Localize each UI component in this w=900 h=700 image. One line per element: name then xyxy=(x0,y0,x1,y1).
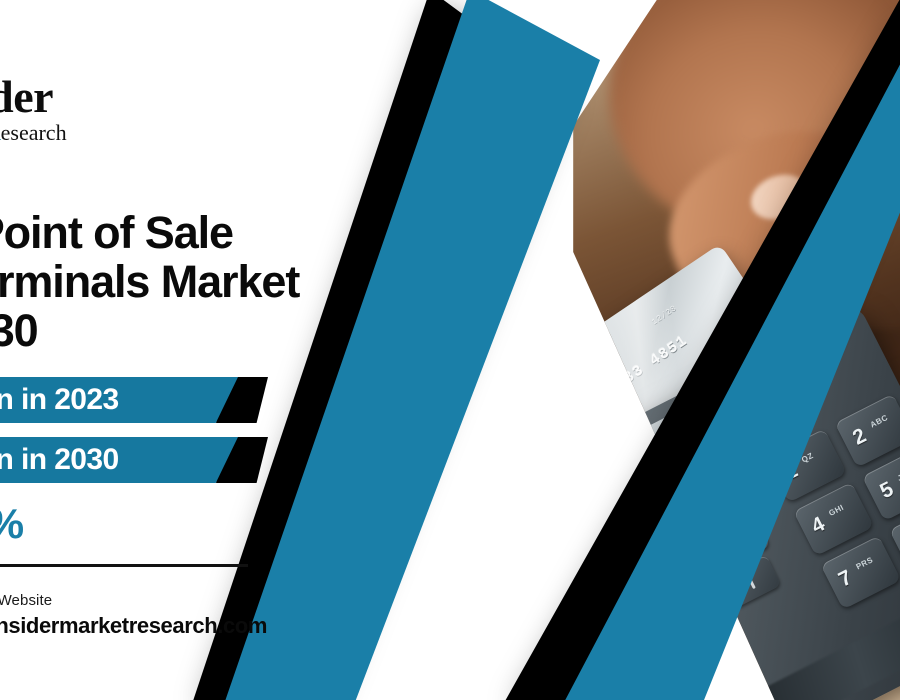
brand-logo: Insider MarketResearch xyxy=(0,74,166,144)
keypad-key: 2 ABC xyxy=(835,394,900,468)
terminal-keypad: 1 QZ 2 ABC 4 GHI 5 JKL xyxy=(766,394,900,663)
logo-research-text: esearch xyxy=(1,120,67,145)
infographic-canvas: 12/28 5309 7883 4851 BANK CREDIT xyxy=(0,0,900,700)
keypad-key: 5 JKL xyxy=(862,447,900,521)
key-digit: 4 xyxy=(808,512,829,539)
keypad-key: 8 TUV xyxy=(889,501,900,575)
emv-chip-icon xyxy=(588,430,631,471)
key-letters: JKL xyxy=(896,467,900,483)
stat-banner-2030: 4 Billion in 2030 xyxy=(0,437,276,483)
logo-tagline: MarketResearch xyxy=(0,122,166,144)
key-digit: 1 xyxy=(780,459,801,486)
key-digit: 5 xyxy=(876,477,897,504)
stat-banner-2023: 3 Billion in 2023 xyxy=(0,377,276,423)
key-letters: PRS xyxy=(855,555,875,571)
logo-wordmark: Insider xyxy=(0,74,166,120)
terminal-screen xyxy=(620,359,813,505)
stat-banner-2023-text: 3 Billion in 2023 xyxy=(0,383,119,417)
credit-card: 12/28 5309 7883 4851 BANK CREDIT xyxy=(520,244,809,516)
pos-terminal: 1 QZ 2 ABC 4 GHI 5 JKL xyxy=(591,304,900,700)
page-title: al Point of Sale Terminals Market -2030 xyxy=(0,208,448,355)
card-number: 5309 7883 4851 xyxy=(560,297,744,429)
fingernail-shape xyxy=(744,167,814,228)
left-content-column: Insider MarketResearch al Point of Sale … xyxy=(0,0,470,700)
card-issuer: BANK CREDIT xyxy=(601,436,665,484)
terminal-body xyxy=(591,304,900,700)
title-line-3: -2030 xyxy=(0,306,448,355)
table-surface xyxy=(520,330,900,700)
card-expiry: 12/28 xyxy=(650,304,678,327)
website-url[interactable]: w.insidermarketresearch.com xyxy=(0,613,328,639)
keypad-key: 4 GHI xyxy=(793,482,874,556)
pos-payment-photo: 12/28 5309 7883 4851 BANK CREDIT xyxy=(520,0,900,700)
footer-cta: Our Website w.insidermarketresearch.com xyxy=(0,592,328,639)
key-letters: ABC xyxy=(869,413,890,430)
cagr-stat: R8.6% xyxy=(0,503,23,545)
nav-up-key xyxy=(682,482,744,536)
keypad-key: 1 QZ xyxy=(766,429,847,503)
card-gloss xyxy=(520,244,809,516)
visit-website-label: Our Website xyxy=(0,592,328,609)
terminal-nav-keys xyxy=(656,468,808,622)
cagr-value: 8.6% xyxy=(0,500,23,547)
stat-banner-2030-text: 4 Billion in 2030 xyxy=(0,443,119,477)
key-digit: 7 xyxy=(835,566,856,593)
nav-enter-key xyxy=(693,514,770,577)
title-line-1: al Point of Sale xyxy=(0,208,448,257)
key-digit: 2 xyxy=(849,424,870,451)
nav-down-key xyxy=(720,555,782,609)
title-line-2: Terminals Market xyxy=(0,257,448,306)
divider-rule xyxy=(0,564,248,567)
keypad-key: 7 PRS xyxy=(821,535,900,609)
key-letters: GHI xyxy=(827,503,845,518)
photo-scene: 12/28 5309 7883 4851 BANK CREDIT xyxy=(520,0,900,700)
thumb-shape xyxy=(646,108,899,322)
terminal-base-edge xyxy=(721,564,900,700)
key-letters: QZ xyxy=(800,451,815,465)
hand-shape xyxy=(572,0,900,284)
